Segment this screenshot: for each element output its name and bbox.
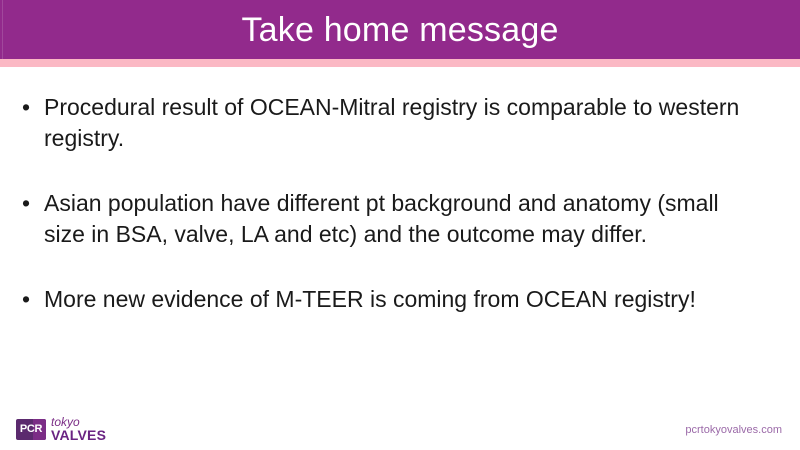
list-item: • Asian population have different pt bac…: [18, 188, 782, 250]
list-item: • More new evidence of M-TEER is coming …: [18, 284, 782, 315]
slide: Take home message • Procedural result of…: [0, 0, 800, 450]
accent-strip: [0, 59, 800, 67]
list-item-text: More new evidence of M-TEER is coming fr…: [44, 284, 744, 315]
list-item-text: Asian population have different pt backg…: [44, 188, 744, 250]
slide-title-banner: Take home message: [0, 0, 800, 59]
bullet-list: • Procedural result of OCEAN-Mitral regi…: [18, 92, 782, 315]
logo-valves-text: VALVES: [51, 428, 106, 442]
list-item-text: Procedural result of OCEAN-Mitral regist…: [44, 92, 744, 154]
footer-url: pcrtokyovalves.com: [685, 424, 782, 437]
bullet-marker-icon: •: [18, 188, 44, 219]
list-item: • Procedural result of OCEAN-Mitral regi…: [18, 92, 782, 154]
page-title: Take home message: [241, 13, 558, 47]
pcr-logo-text: PCR: [20, 424, 42, 435]
logo-wordmark: tokyo VALVES: [51, 416, 106, 442]
pcr-tokyo-valves-logo: PCR tokyo VALVES: [16, 416, 106, 442]
bullet-marker-icon: •: [18, 284, 44, 315]
bullet-marker-icon: •: [18, 92, 44, 123]
pcr-logo-icon: PCR: [16, 419, 46, 440]
